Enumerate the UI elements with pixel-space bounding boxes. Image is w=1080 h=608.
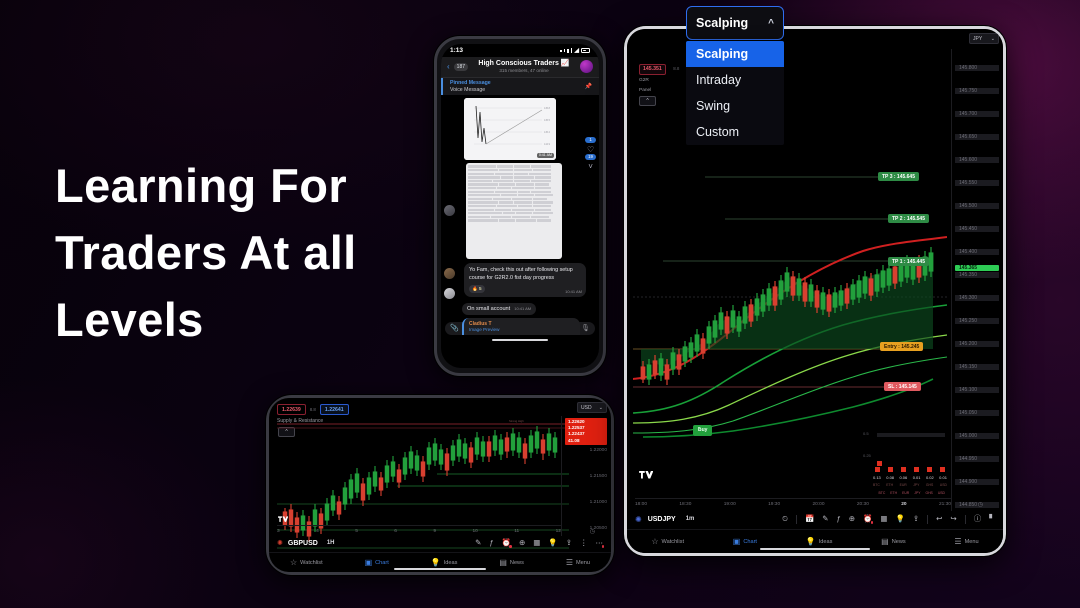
price-tick: 145.650: [955, 134, 999, 140]
gbp-time-tick: 12: [556, 529, 561, 534]
undo-icon[interactable]: ↩: [936, 515, 942, 523]
price-tick: 145.250: [955, 318, 999, 324]
indicator-square: [914, 467, 919, 472]
indicator-square: [888, 467, 893, 472]
gbp-time-tick: 11: [514, 529, 519, 534]
dropdown-option-intraday[interactable]: Intraday: [686, 67, 784, 93]
nav-item-watchlist[interactable]: ☆ Watchlist: [290, 558, 323, 567]
layouts-icon[interactable]: ▦: [880, 515, 887, 523]
symbol-label[interactable]: USDJPY: [648, 516, 676, 523]
nav-label: News: [892, 539, 906, 545]
time-axis[interactable]: 18:00 18:30 19:00 19:30 20:00 20:30 20 2…: [635, 498, 951, 509]
headline-line-2: Traders At all: [55, 219, 435, 286]
gbp-time-tick: 10: [472, 529, 477, 534]
indicator-square: [940, 467, 945, 472]
nav-label: Chart: [375, 560, 389, 566]
alert-icon[interactable]: ⏰: [863, 515, 872, 523]
indicators-icon[interactable]: ⏲: [782, 515, 788, 523]
heart-icon[interactable]: ♡: [585, 145, 596, 154]
headline-line-3: Levels: [55, 286, 435, 353]
bulb-icon: 💡: [431, 558, 441, 567]
level-entry[interactable]: Entry : 145.245: [880, 342, 923, 351]
price-scale[interactable]: JPY ⌄ 145.800 145.750 145.700 145.650 14…: [951, 49, 1003, 511]
layouts-icon[interactable]: ▦: [533, 539, 540, 547]
function-icon[interactable]: ƒ: [489, 539, 493, 547]
ideas-icon[interactable]: 💡: [895, 515, 904, 523]
gbp-currency-value: USD: [581, 405, 592, 411]
currency-chip[interactable]: BTC: [878, 491, 885, 495]
indicator-square: [877, 461, 882, 466]
strategy-dropdown-list[interactable]: Scalping Intraday Swing Custom: [686, 41, 784, 145]
nav-label: Ideas: [444, 560, 458, 566]
svg-text:144.9: 144.9: [544, 143, 551, 146]
star-icon: ☆: [651, 537, 658, 546]
unread-badge[interactable]: 187: [454, 63, 468, 71]
chat-message-bubble[interactable]: On small account 10:41 AM: [462, 303, 536, 315]
time-tick: 19:30: [768, 502, 780, 507]
indicator-value: 0.01: [913, 475, 921, 480]
share-icon[interactable]: ⇪: [566, 539, 572, 547]
status-time: 1:13: [450, 47, 463, 54]
tradingview-logo-icon: [639, 471, 653, 481]
alert-icon[interactable]: ⏰: [502, 539, 511, 547]
nav-item-news[interactable]: ▤ News: [881, 537, 906, 546]
back-icon[interactable]: ‹: [447, 62, 450, 71]
nav-label: Menu: [965, 539, 979, 545]
function-icon[interactable]: ƒ: [837, 515, 841, 523]
timeframe-label[interactable]: 1m: [686, 516, 695, 522]
table-image-attachment[interactable]: [466, 163, 562, 259]
message-text: Yo Fam, check this out after following s…: [469, 267, 573, 281]
indicator-squares: [875, 467, 945, 472]
currency-chip[interactable]: JPY: [914, 491, 920, 495]
currency-value: JPY: [973, 36, 982, 42]
news-icon: ▤: [499, 558, 507, 567]
avatar[interactable]: [444, 268, 455, 279]
chat-message-bubble[interactable]: Yo Fam, check this out after following s…: [464, 263, 586, 297]
price-tick: 145.750: [955, 88, 999, 94]
battery-icon: [581, 48, 590, 53]
time-tick: 18:00: [635, 502, 647, 507]
pinned-subtitle: Voice Message: [450, 87, 581, 93]
gbp-time-tick: 9: [433, 529, 436, 534]
menu-icon: ☰: [954, 537, 961, 546]
indicator-square: [927, 467, 932, 472]
current-price-label: 145.365: [955, 265, 999, 271]
level-tp2[interactable]: TP 2 : 145.545: [888, 214, 929, 223]
currency-chip[interactable]: ETH: [890, 491, 897, 495]
nav-item-menu[interactable]: ☰ Menu: [566, 558, 590, 567]
strategy-dropdown-button[interactable]: Scalping ^: [686, 6, 784, 40]
indicator-label: BTC: [873, 483, 880, 487]
gbp-currency-select[interactable]: USD ⌄: [577, 402, 607, 413]
pin-icon[interactable]: 📌: [585, 83, 592, 90]
paperclip-icon[interactable]: 📎: [450, 324, 459, 332]
time-tick: 20:00: [813, 502, 825, 507]
home-indicator: [394, 568, 486, 570]
clock-icon[interactable]: ◷: [590, 528, 595, 535]
add-icon[interactable]: ⊕: [849, 515, 855, 523]
chat-reply-preview[interactable]: Cladius T Image Preview: [462, 318, 580, 335]
currency-select[interactable]: JPY ⌄: [969, 33, 999, 44]
fire-icon: 🔥: [472, 286, 478, 291]
gbp-tick: 1.21000: [590, 500, 607, 505]
message-timestamp: 10:41 AM: [565, 289, 582, 295]
indicator-label: USD: [940, 483, 947, 487]
attachment-chart-svg: 145.8145.5 145.2144.9: [464, 98, 556, 160]
indicator-scale-top: 0.5: [863, 431, 869, 436]
price-tick: 145.000: [955, 433, 999, 439]
indicator-bg-bar: [877, 433, 945, 437]
pinned-message-bar[interactable]: Pinned Message Voice Message 📌: [441, 78, 599, 94]
chevron-up-icon: ^: [768, 18, 774, 29]
gbp-time-tick: 5: [355, 529, 358, 534]
dropdown-option-custom[interactable]: Custom: [686, 119, 784, 145]
avatar[interactable]: [580, 60, 593, 73]
headline-line-1: Learning For: [55, 152, 435, 219]
pinned-text: Pinned Message Voice Message: [450, 80, 581, 92]
divider: [965, 515, 966, 524]
nav-label: Menu: [576, 560, 590, 566]
tradingview-gbpusd-screen: 1.22639 8.8 1.22641 Supply & Resistance …: [269, 398, 611, 572]
time-tick-current: 20: [901, 502, 906, 507]
price-tick: 145.350: [955, 272, 999, 278]
chat-subtitle: 315 members, 47 online: [472, 68, 576, 73]
news-icon: ▤: [881, 537, 889, 546]
poster-canvas: Learning For Traders At all Levels 1:13 …: [0, 0, 1080, 608]
indicators-icon[interactable]: ⋮: [580, 539, 588, 547]
price-tick: 145.450: [955, 226, 999, 232]
indicator-label: GHS: [926, 483, 933, 487]
indicator-value: 0.06: [899, 475, 907, 480]
indicator-label: ETH: [886, 483, 893, 487]
home-indicator: [492, 339, 548, 341]
nav-item-news[interactable]: ▤ News: [499, 558, 524, 567]
dropdown-option-swing[interactable]: Swing: [686, 93, 784, 119]
svg-text:145.5: 145.5: [544, 119, 551, 122]
time-tick: 21:30: [939, 502, 951, 507]
redo-icon[interactable]: ↪: [950, 515, 956, 523]
price-tick: 145.600: [955, 157, 999, 163]
nav-label: Watchlist: [300, 560, 322, 566]
calendar-icon[interactable]: 📅: [805, 515, 814, 523]
phone-gbpusd-device: 1.22639 8.8 1.22641 Supply & Resistance …: [266, 395, 614, 575]
gbp-alert-prices[interactable]: 1.22620 1.22537 1.22437 41.08: [565, 418, 607, 445]
indicator-label: EUR: [900, 483, 907, 487]
currency-chip[interactable]: EUR: [902, 491, 909, 495]
tablet-device: 145.351 8.8 G2R Panel ^: [624, 26, 1006, 556]
gbp-time-axis[interactable]: 3 4 5 6 9 10 11 12: [277, 525, 561, 536]
time-tick: 20:30: [857, 502, 869, 507]
nav-item-chart[interactable]: ▣ Chart: [733, 537, 757, 546]
gbp-timeframe[interactable]: 1H: [327, 540, 335, 546]
dropdown-option-scalping[interactable]: Scalping: [686, 41, 784, 67]
chat-message-list[interactable]: 145.8145.5 145.2144.9 0:41 AM: [441, 95, 599, 320]
more-icon[interactable]: ⋯: [596, 539, 604, 547]
info-icon[interactable]: ⓘ: [974, 515, 982, 523]
status-icons: ◢: [560, 47, 590, 54]
gbp-alert-4: 41.08: [568, 438, 607, 444]
svg-text:145.8: 145.8: [544, 107, 551, 110]
price-tick: 144.900: [955, 479, 999, 485]
clock-icon[interactable]: ◷: [978, 501, 983, 508]
indicator-square: [875, 467, 880, 472]
price-tick: 145.300: [955, 295, 999, 301]
side-chip-count-2[interactable]: 19: [585, 154, 596, 160]
add-icon[interactable]: ⊕: [519, 539, 525, 547]
chart-icon: ▣: [365, 558, 373, 567]
buy-signal-badge[interactable]: Buy: [693, 425, 712, 436]
chart-image-attachment[interactable]: 145.8145.5 145.2144.9 0:41 AM: [464, 98, 556, 160]
attachment-duration: 0:41 AM: [537, 153, 554, 158]
stats-icon[interactable]: ▘: [989, 515, 995, 523]
indicator-pane[interactable]: 0.5 0.25 0.13 0.08 0.06 0.01 0.02 0.01: [863, 427, 945, 489]
gbp-note: Strong High: [509, 419, 524, 423]
telegram-screen: 1:13 ◢ ‹ 187 High Conscious Traders 📈 31…: [441, 44, 599, 368]
message-text: On small account: [467, 306, 510, 312]
chevron-down-icon[interactable]: ˅: [585, 162, 596, 171]
gbp-time-tick: 6: [394, 529, 397, 534]
message-timestamp: 10:41 AM: [514, 306, 531, 311]
toolbar-icons[interactable]: ⏲ 📅 ✎ ƒ ⊕ ⏰ ▦ 💡 ⇪ ↩ ↪ ⓘ ▘: [700, 515, 995, 524]
nav-label: Chart: [743, 539, 757, 545]
price-tick: 145.150: [955, 364, 999, 370]
svg-text:145.2: 145.2: [544, 131, 551, 134]
gbp-tick: 1.21500: [590, 474, 607, 479]
ideas-icon[interactable]: 💡: [548, 539, 557, 547]
gbp-tick: 1.22000: [590, 448, 607, 453]
gbp-time-tick: 4: [316, 529, 319, 534]
time-tick: 18:30: [679, 502, 691, 507]
indicator-values: 0.13 0.08 0.06 0.01 0.02 0.01: [873, 475, 947, 480]
strategy-dropdown[interactable]: Scalping ^ Scalping Intraday Swing Custo…: [686, 6, 784, 145]
chart-icon: ▣: [733, 537, 741, 546]
chevron-down-icon: ⌄: [991, 36, 995, 42]
level-sl[interactable]: SL : 145.145: [884, 382, 921, 391]
indicator-value: 0.08: [886, 475, 894, 480]
level-tp3[interactable]: TP 3 : 145.645: [878, 172, 919, 181]
price-tick: 145.500: [955, 203, 999, 209]
chat-title: High Conscious Traders 📈: [472, 60, 576, 68]
draw-icon[interactable]: ✎: [822, 515, 828, 523]
gbp-time-tick: 3: [277, 529, 280, 534]
strategy-dropdown-value: Scalping: [696, 16, 748, 30]
currency-chip[interactable]: USD: [938, 491, 945, 495]
share-icon[interactable]: ⇪: [913, 515, 919, 523]
symbol-icon: ✺: [635, 515, 642, 524]
indicator-value: 0.01: [939, 475, 947, 480]
time-tick: 19:00: [724, 502, 736, 507]
phone-status-bar: 1:13 ◢: [441, 44, 599, 57]
indicator-square: [901, 467, 906, 472]
indicator-value: 0.13: [873, 475, 881, 480]
phone-telegram-device: 1:13 ◢ ‹ 187 High Conscious Traders 📈 31…: [434, 36, 606, 376]
tradingview-usdjpy-screen: 145.351 8.8 G2R Panel ^: [627, 29, 1003, 553]
chat-header: ‹ 187 High Conscious Traders 📈 315 membe…: [441, 57, 599, 78]
reply-preview: Image Preview: [469, 327, 575, 332]
nav-label: Ideas: [819, 539, 833, 545]
avatar[interactable]: [444, 205, 455, 216]
reaction-count: 5: [479, 286, 482, 291]
nav-label: Watchlist: [662, 539, 684, 545]
nav-item-ideas[interactable]: 💡 Ideas: [806, 537, 833, 546]
price-tick: 145.550: [955, 180, 999, 186]
gbp-price-scale[interactable]: USD ⌄ 1.22620 1.22537 1.22437 41.08 1.22…: [561, 416, 611, 536]
chart-toolbar[interactable]: ✺ USDJPY 1m ⏲ 📅 ✎ ƒ ⊕ ⏰ ▦ 💡 ⇪ ↩ ↪: [635, 511, 995, 527]
currency-quick-row[interactable]: BTC ETH EUR JPY GHS USD: [878, 491, 945, 495]
microphone-icon[interactable]: 🎙: [581, 324, 590, 332]
indicator-labels: BTC ETH EUR JPY GHS USD: [873, 483, 947, 487]
page-title: Learning For Traders At all Levels: [55, 152, 435, 354]
draw-icon[interactable]: ✎: [475, 539, 481, 547]
indicator-value: 0.02: [926, 475, 934, 480]
price-tick: 145.700: [955, 111, 999, 117]
price-tick: 145.100: [955, 387, 999, 393]
gbp-symbol[interactable]: GBPUSD: [288, 540, 318, 547]
gbp-toolbar[interactable]: ✺ GBPUSD 1H ✎ ƒ ⏰ ⊕ ▦ 💡 ⇪ ⋮ ⋯: [277, 536, 603, 550]
wifi-icon: ◢: [574, 47, 579, 54]
star-icon: ☆: [290, 558, 297, 567]
price-tick: 145.050: [955, 410, 999, 416]
price-tick: 145.200: [955, 341, 999, 347]
currency-chip[interactable]: GHS: [925, 491, 932, 495]
gbp-toolbar-icons[interactable]: ✎ ƒ ⏰ ⊕ ▦ 💡 ⇪ ⋮ ⋯: [340, 539, 604, 547]
indicator-label: JPY: [913, 483, 919, 487]
menu-icon: ☰: [566, 558, 573, 567]
chat-title-wrap[interactable]: High Conscious Traders 📈 315 members, 47…: [472, 60, 576, 73]
nav-label: News: [510, 560, 524, 566]
price-tick: 145.400: [955, 249, 999, 255]
divider: [796, 515, 797, 524]
price-tick: 144.950: [955, 456, 999, 462]
nav-item-chart[interactable]: ▣ Chart: [365, 558, 389, 567]
indicator-scale-mid: 0.25: [863, 453, 871, 458]
side-action-stack[interactable]: 1 ♡ 19 ˅: [585, 137, 596, 171]
divider: [927, 515, 928, 524]
nav-item-ideas[interactable]: 💡 Ideas: [431, 558, 458, 567]
chevron-down-icon: ⌄: [599, 405, 603, 411]
price-tick: 145.800: [955, 65, 999, 71]
reaction-pill[interactable]: 🔥 5: [469, 285, 485, 293]
nav-item-watchlist[interactable]: ☆ Watchlist: [651, 537, 684, 546]
side-chip-count[interactable]: 1: [585, 137, 596, 143]
avatar[interactable]: [444, 288, 455, 299]
nav-item-menu[interactable]: ☰ Menu: [954, 537, 978, 546]
tradingview-logo-icon: [278, 516, 288, 524]
bulb-icon: 💡: [806, 537, 816, 546]
symbol-icon: ✺: [277, 539, 283, 547]
level-tp1[interactable]: TP 1 : 145.445: [888, 257, 929, 266]
